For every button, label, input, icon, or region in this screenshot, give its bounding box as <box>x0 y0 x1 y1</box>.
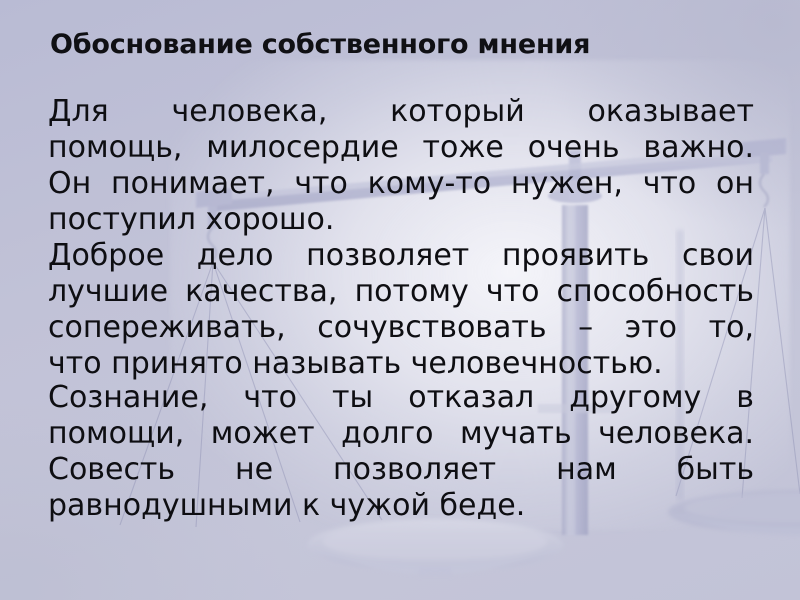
paragraph-1-line-4: поступил хорошо. <box>48 202 754 238</box>
page-title: Обоснование собственного мнения <box>50 28 750 62</box>
paragraph-3-line-2: помощи, может долго мучать человека. <box>48 416 754 452</box>
paragraph-3-line-3: Совесть не позволяет нам быть <box>48 452 754 488</box>
paragraph-3-line-1: Сознание, что ты отказал другому в <box>48 380 754 416</box>
paragraph-2: Доброе дело позволяет проявить свои лучш… <box>48 238 754 382</box>
paragraph-1: Для человека, который оказывает помощь, … <box>48 94 754 238</box>
paragraph-1-line-3: Он понимает, что кому-то нужен, что он <box>48 166 754 202</box>
paragraph-2-line-3: сопереживать, сочувствовать – это то, <box>48 310 754 346</box>
paragraph-2-line-2: лучшие качества, потому что способность <box>48 274 754 310</box>
paragraph-1-line-1: Для человека, который оказывает <box>48 94 754 130</box>
paragraph-2-line-4: что принято называть человечностью. <box>48 346 754 382</box>
paragraph-3: Сознание, что ты отказал другому в помощ… <box>48 380 754 524</box>
presentation-slide: Обоснование собственного мнения Для чело… <box>0 0 800 600</box>
paragraph-2-line-1: Доброе дело позволяет проявить свои <box>48 238 754 274</box>
slide-content: Обоснование собственного мнения Для чело… <box>0 0 800 600</box>
paragraph-1-line-2: помощь, милосердие тоже очень важно. <box>48 130 754 166</box>
paragraph-3-line-4: равнодушными к чужой беде. <box>48 488 754 524</box>
